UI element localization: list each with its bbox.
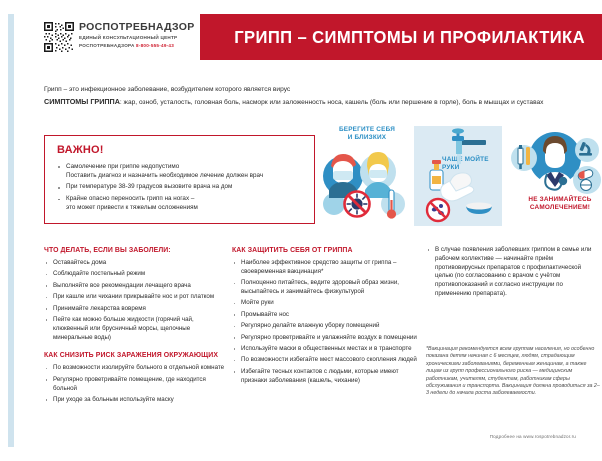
brand-subtitle-line1: ЕДИНЫЙ КОНСУЛЬТАЦИОННЫЙ ЦЕНТР (79, 35, 177, 40)
poster-root: РОСПОТРЕБНАДЗОР ЕДИНЫЙ КОНСУЛЬТАЦИОННЫЙ … (0, 0, 602, 461)
col3-list-1: В случае появления заболевших гриппом в … (426, 246, 600, 299)
important-item-main: Крайне опасно переносить грипп на ногах … (66, 195, 194, 202)
caption-protect-line1: БЕРЕГИТЕ СЕБЯ (339, 126, 395, 133)
brand-subtitle-line2: РОСПОТРЕБНАДЗОРА 8-800-555-49-43 (79, 43, 174, 48)
col2-heading-1: КАК ЗАЩИТИТЬ СЕБЯ ОТ ГРИППА (232, 246, 418, 255)
list-item: При температуре 38-39 градусов вызовите … (57, 183, 306, 192)
symptoms-label: СИМПТОМЫ ГРИППА (44, 97, 120, 106)
list-item: Регулярно проветривайте помещение, где н… (44, 376, 226, 394)
important-item-main: Самолечение при гриппе недопустимо (66, 163, 179, 170)
faucet-icon (452, 128, 486, 164)
col2-list-1: Наиболее эффективное средство защиты от … (232, 259, 418, 385)
list-item: Крайне опасно переносить грипп на ногах … (57, 195, 306, 212)
list-item: В случае появления заболевших гриппом в … (426, 246, 600, 299)
important-box: ВАЖНО! Самолечение при гриппе недопустим… (44, 135, 315, 224)
col1-list-1: Оставайтесь дома Соблюдайте постельный р… (44, 259, 226, 342)
important-item-cont: Поставить диагноз и назначить необходимо… (66, 172, 306, 181)
list-item: Самолечение при гриппе недопустимо Поста… (57, 163, 306, 180)
qr-code-icon (44, 22, 74, 52)
list-item: Принимайте лекарства вовремя (44, 305, 226, 314)
important-list: Самолечение при гриппе недопустимо Поста… (57, 163, 306, 216)
important-title: ВАЖНО! (57, 144, 104, 156)
basin-icon (466, 203, 492, 215)
column-antivirals: В случае появления заболевших гриппом в … (426, 246, 600, 301)
title-bar: ГРИПП – СИМПТОМЫ И ПРОФИЛАКТИКА (200, 14, 602, 60)
column-what-to-do: ЧТО ДЕЛАТЬ, ЕСЛИ ВЫ ЗАБОЛЕЛИ: Оставайтес… (44, 246, 226, 407)
list-item: Соблюдайте постельный режим (44, 270, 226, 279)
list-item: Промывайте нос (232, 311, 418, 320)
page-title: ГРИПП – СИМПТОМЫ И ПРОФИЛАКТИКА (235, 27, 586, 48)
list-item: Регулярно проветривайте и увлажняйте воз… (232, 334, 418, 343)
intro-line-1: Грипп – это инфекционное заболевание, во… (44, 85, 580, 95)
illustration-wash-hands: ЧАЩЕ МОЙТЕ РУКИ (414, 126, 502, 226)
footer-link[interactable]: Подробнее на www.rospotrebnadzor.ru (490, 434, 576, 439)
list-item: Выполняйте все рекомендации лечащего вра… (44, 282, 226, 291)
vaccination-footnote: *Вакцинация рекомендуется всем группам н… (426, 346, 602, 398)
list-item: При уходе за больным используйте маску (44, 396, 226, 405)
germs-blocked-icon (427, 199, 449, 221)
list-item: По возможности избегайте мест массового … (232, 356, 418, 365)
list-item: Оставайтесь дома (44, 259, 226, 268)
caption-protect-line2: И БЛИЗКИХ (348, 134, 386, 141)
poster-sheet: РОСПОТРЕБНАДЗОР ЕДИНЫЙ КОНСУЛЬТАЦИОННЫЙ … (8, 14, 594, 447)
col1-heading-1: ЧТО ДЕЛАТЬ, ЕСЛИ ВЫ ЗАБОЛЕЛИ: (44, 246, 226, 255)
washing-hands-icon (441, 173, 474, 201)
column-how-to-protect: КАК ЗАЩИТИТЬ СЕБЯ ОТ ГРИППА Наиболее эфф… (232, 246, 418, 388)
soap-bottle-icon (430, 160, 443, 190)
illustration-no-selfmedication: НЕ ЗАНИМАЙТЕСЬ САМОЛЕЧЕНИЕМ! (507, 126, 602, 226)
intro-block: Грипп – это инфекционное заболевание, во… (44, 85, 580, 108)
illustrations-block: БЕРЕГИТЕ СЕБЯ И БЛИЗКИХ (319, 126, 602, 226)
hotline-phone[interactable]: 8-800-555-49-43 (136, 43, 174, 48)
illustration-protect-family: БЕРЕГИТЕ СЕБЯ И БЛИЗКИХ (319, 126, 411, 226)
list-item: Регулярно делайте влажную уборку помещен… (232, 322, 418, 331)
caption-selfmed-line2: САМОЛЕЧЕНИЕМ! (530, 204, 590, 211)
list-item: Полноценно питайтесь, ведите здоровый об… (232, 279, 418, 297)
brand-name: РОСПОТРЕБНАДЗОР (79, 21, 195, 33)
list-item: При кашле или чихании прикрывайте нос и … (44, 293, 226, 302)
important-item-main: При температуре 38-39 градусов вызовите … (66, 183, 232, 190)
list-item: Избегайте тесных контактов с людьми, кот… (232, 368, 418, 386)
list-item: Наиболее эффективное средство защиты от … (232, 259, 418, 277)
col1-heading-2: КАК СНИЗИТЬ РИСК ЗАРАЖЕНИЯ ОКРУЖАЮЩИХ (44, 351, 226, 360)
col1-list-2: По возможности изолируйте больного в отд… (44, 364, 226, 404)
list-item: Мойте руки (232, 299, 418, 308)
brand-block: РОСПОТРЕБНАДЗОР ЕДИНЫЙ КОНСУЛЬТАЦИОННЫЙ … (44, 21, 204, 57)
important-item-cont: это может привести к тяжелым осложнениям (66, 204, 306, 213)
list-item: Пейте как можно больше жидкости (горячий… (44, 316, 226, 342)
caption-protect: БЕРЕГИТЕ СЕБЯ И БЛИЗКИХ (325, 126, 409, 142)
symptoms-text: : жар, озноб, усталость, головная боль, … (120, 99, 544, 106)
list-item: Используйте маски в общественных местах … (232, 345, 418, 354)
poster-header: РОСПОТРЕБНАДЗОР ЕДИНЫЙ КОНСУЛЬТАЦИОННЫЙ … (28, 14, 594, 60)
list-item: По возможности изолируйте больного в отд… (44, 364, 226, 373)
intro-line-2: СИМПТОМЫ ГРИППА: жар, озноб, усталость, … (44, 97, 580, 108)
brand-subtitle-prefix: РОСПОТРЕБНАДЗОРА (79, 43, 136, 48)
content-columns: ЧТО ДЕЛАТЬ, ЕСЛИ ВЫ ЗАБОЛЕЛИ: Оставайтес… (44, 246, 600, 431)
